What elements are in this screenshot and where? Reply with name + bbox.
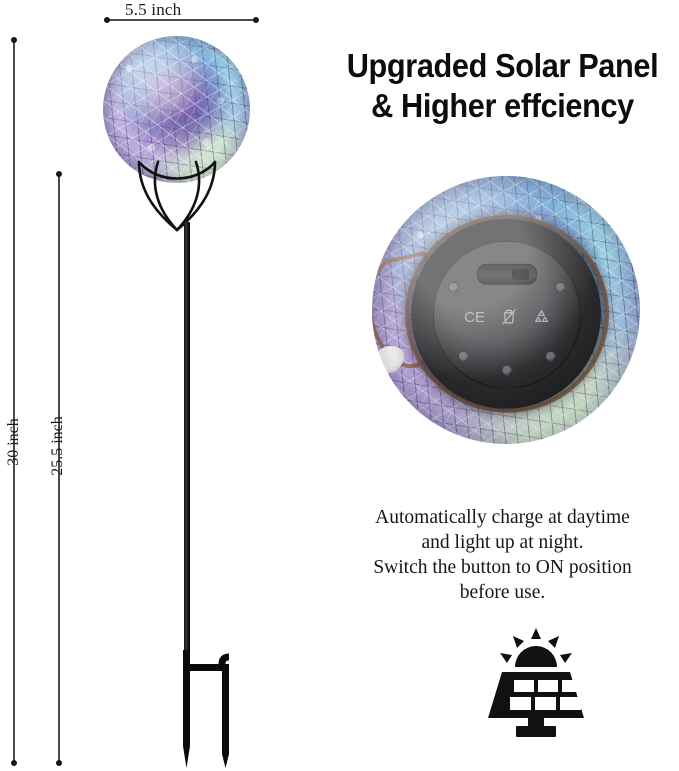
lamp-pole <box>184 222 190 662</box>
width-dimension-line <box>105 19 258 21</box>
globe-shading <box>372 176 640 444</box>
stake-height-dimension-label: 25.5 inch <box>49 410 67 482</box>
product-infographic: 5.5 inch 30 inch 25.5 inch <box>0 0 679 771</box>
battery-compartment-detail-globe: CE <box>372 176 640 444</box>
headline-line-1: Upgraded Solar Panel <box>342 46 663 86</box>
wire-cradle <box>136 160 218 232</box>
total-height-dimension-label: 30 inch <box>5 414 23 470</box>
width-dimension-label: 5.5 inch <box>125 0 181 20</box>
description-line-3: Switch the button to ON position <box>330 555 675 580</box>
description-line-1: Automatically charge at daytime <box>330 505 675 530</box>
solar-panel-with-sun-icon <box>466 620 606 745</box>
ground-stake <box>170 650 242 768</box>
headline: Upgraded Solar Panel & Higher effciency <box>342 46 663 126</box>
description-line-2: and light up at night. <box>330 530 675 555</box>
headline-line-2: & Higher effciency <box>342 86 663 126</box>
description-text: Automatically charge at daytime and ligh… <box>330 505 675 605</box>
total-height-dimension-line <box>13 38 15 765</box>
description-line-4: before use. <box>330 580 675 605</box>
